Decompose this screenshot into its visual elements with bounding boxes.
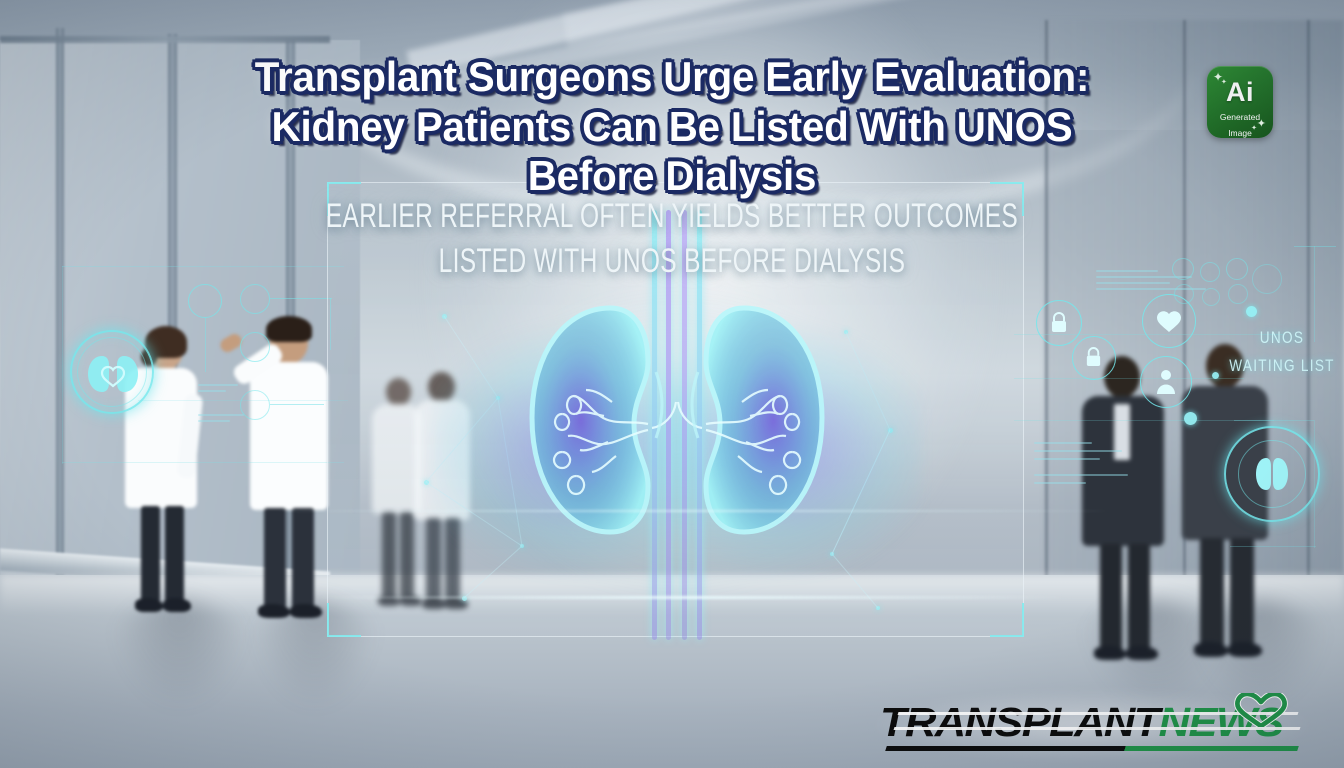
scan-beam — [272, 510, 1112, 512]
kidney-hologram — [492, 252, 862, 632]
scan-beam — [312, 596, 1072, 599]
slide-headline-line1: EARLIER REFERRAL OFTEN YIELDS BETTER OUT… — [188, 197, 1156, 236]
sparkle-icon: ✦ — [1257, 119, 1266, 130]
site-logo[interactable]: TRANSPLANTNEWS — [880, 696, 1304, 754]
person-male-doctor — [244, 320, 336, 620]
title-line-1: Transplant Surgeons Urge Early Evaluatio… — [27, 52, 1317, 102]
title-line-2: Kidney Patients Can Be Listed With UNOS — [27, 102, 1317, 152]
logo-underline — [885, 746, 1299, 751]
ai-generated-image-badge: ✦ ✦ ✦ ✦ Ai Generated Image — [1207, 66, 1273, 138]
sparkle-icon: ✦ — [1251, 125, 1257, 132]
sparkle-icon: ✦ — [1221, 79, 1227, 86]
title-line-3: Before Dialysis — [27, 151, 1317, 201]
floor-reflection — [110, 600, 250, 710]
heart-icon — [1232, 693, 1290, 727]
hero-banner: EARLIER REFERRAL OFTEN YIELDS BETTER OUT… — [0, 0, 1344, 768]
person-female-doctor — [123, 330, 203, 615]
slide-headline-line2: LISTED WITH UNOS BEFORE DIALYSIS — [188, 242, 1156, 281]
person-businessman — [1078, 356, 1170, 656]
logo-text-transplant: TRANSPLANT — [880, 699, 1159, 745]
person-businessman — [1178, 344, 1274, 656]
window-mullion — [0, 36, 330, 43]
page-title: Transplant Surgeons Urge Early Evaluatio… — [27, 52, 1317, 201]
